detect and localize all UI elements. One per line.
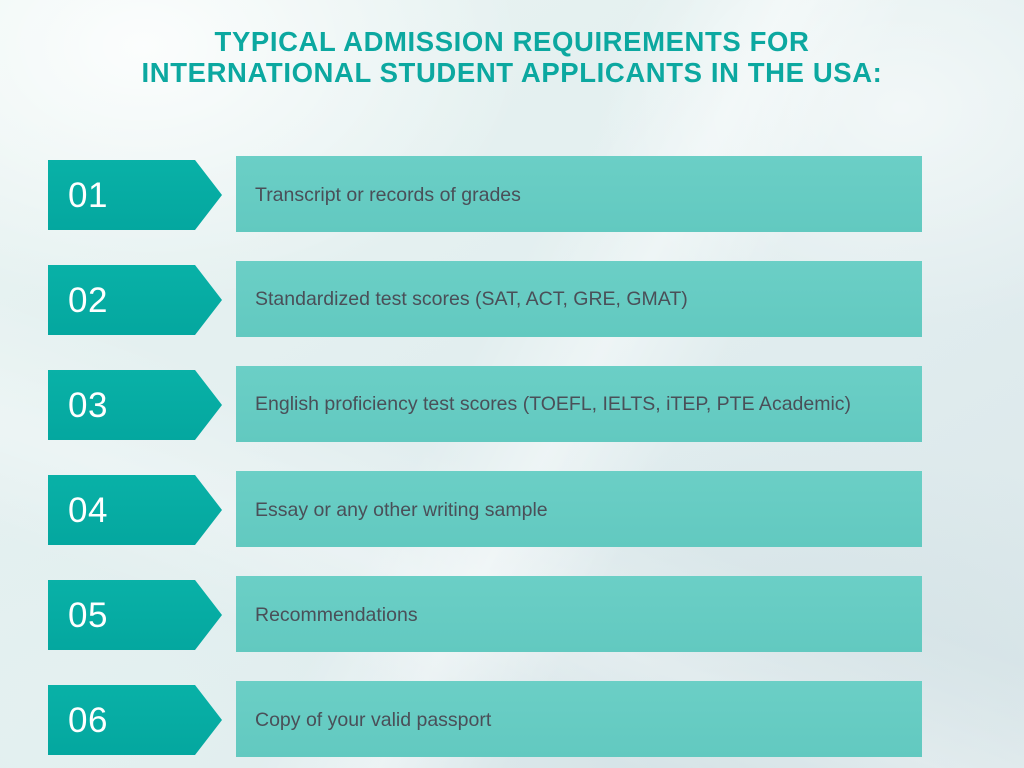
list-item: 05 Recommendations [0, 576, 1024, 652]
step-badge-04: 04 [48, 475, 222, 545]
page-title: Typical admission requirements for inter… [96, 26, 928, 88]
requirement-bar-01: Transcript or records of grades [236, 156, 922, 232]
requirement-text: Standardized test scores (SAT, ACT, GRE,… [236, 287, 704, 312]
requirement-bar-06: Copy of your valid passport [236, 681, 922, 757]
step-number: 06 [48, 703, 108, 738]
step-badge-01: 01 [48, 160, 222, 230]
step-badge-03: 03 [48, 370, 222, 440]
step-number: 03 [48, 388, 108, 423]
list-item: 06 Copy of your valid passport [0, 681, 1024, 757]
step-badge-05: 05 [48, 580, 222, 650]
requirement-text: English proficiency test scores (TOEFL, … [236, 392, 867, 417]
step-badge-02: 02 [48, 265, 222, 335]
step-number: 01 [48, 178, 108, 213]
requirement-bar-02: Standardized test scores (SAT, ACT, GRE,… [236, 261, 922, 337]
list-item: 02 Standardized test scores (SAT, ACT, G… [0, 261, 1024, 337]
list-item: 01 Transcript or records of grades [0, 156, 1024, 232]
step-number: 04 [48, 493, 108, 528]
requirement-bar-03: English proficiency test scores (TOEFL, … [236, 366, 922, 442]
requirement-bar-04: Essay or any other writing sample [236, 471, 922, 547]
infographic-poster: Typical admission requirements for inter… [0, 0, 1024, 768]
requirements-list: 01 Transcript or records of grades 02 St… [0, 156, 1024, 768]
requirement-bar-05: Recommendations [236, 576, 922, 652]
list-item: 04 Essay or any other writing sample [0, 471, 1024, 547]
step-number: 05 [48, 598, 108, 633]
requirement-text: Transcript or records of grades [236, 181, 537, 208]
step-badge-06: 06 [48, 685, 222, 755]
list-item: 03 English proficiency test scores (TOEF… [0, 366, 1024, 442]
requirement-text: Essay or any other writing sample [236, 496, 564, 523]
step-number: 02 [48, 283, 108, 318]
requirement-text: Recommendations [236, 601, 434, 628]
requirement-text: Copy of your valid passport [236, 706, 507, 733]
